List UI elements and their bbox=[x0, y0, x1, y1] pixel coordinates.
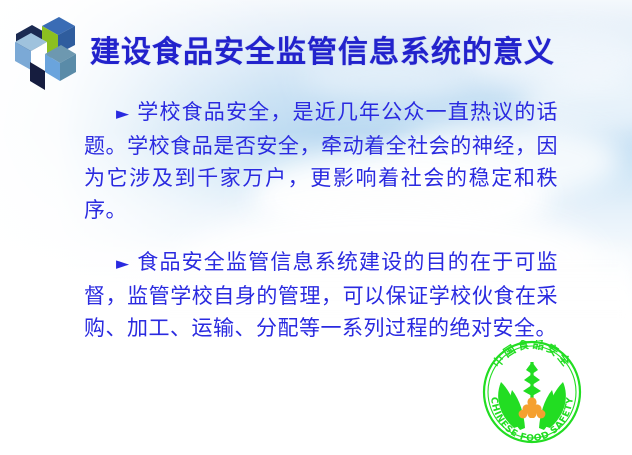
presentation-slide: 建设食品安全监管信息系统的意义 ►学校食品安全，是近几年公众一直热议的话题。学校… bbox=[0, 0, 632, 455]
paragraph-2-text: 食品安全监管信息系统建设的目的在于可监督，监管学校自身的管理，可以保证学校伙食在… bbox=[84, 250, 558, 340]
triangle-bullet-icon: ► bbox=[116, 254, 137, 274]
isometric-cube-logo-icon bbox=[14, 12, 76, 90]
paragraph-1: ►学校食品安全，是近几年公众一直热议的话题。学校食品是否安全，牵动着全社会的神经… bbox=[84, 96, 558, 226]
paragraph-1-text: 学校食品安全，是近几年公众一直热议的话题。学校食品是否安全，牵动着全社会的神经，… bbox=[84, 100, 558, 222]
chinese-food-safety-seal-icon: 中国食品安全 CHINESE FOOD SAFETY bbox=[478, 340, 586, 444]
page-title: 建设食品安全监管信息系统的意义 bbox=[90, 27, 555, 71]
slide-body: ►学校食品安全，是近几年公众一直热议的话题。学校食品是否安全，牵动着全社会的神经… bbox=[84, 96, 558, 344]
paragraph-2: ►食品安全监管信息系统建设的目的在于可监督，监管学校自身的管理，可以保证学校伙食… bbox=[84, 246, 558, 344]
triangle-bullet-icon: ► bbox=[116, 104, 137, 124]
